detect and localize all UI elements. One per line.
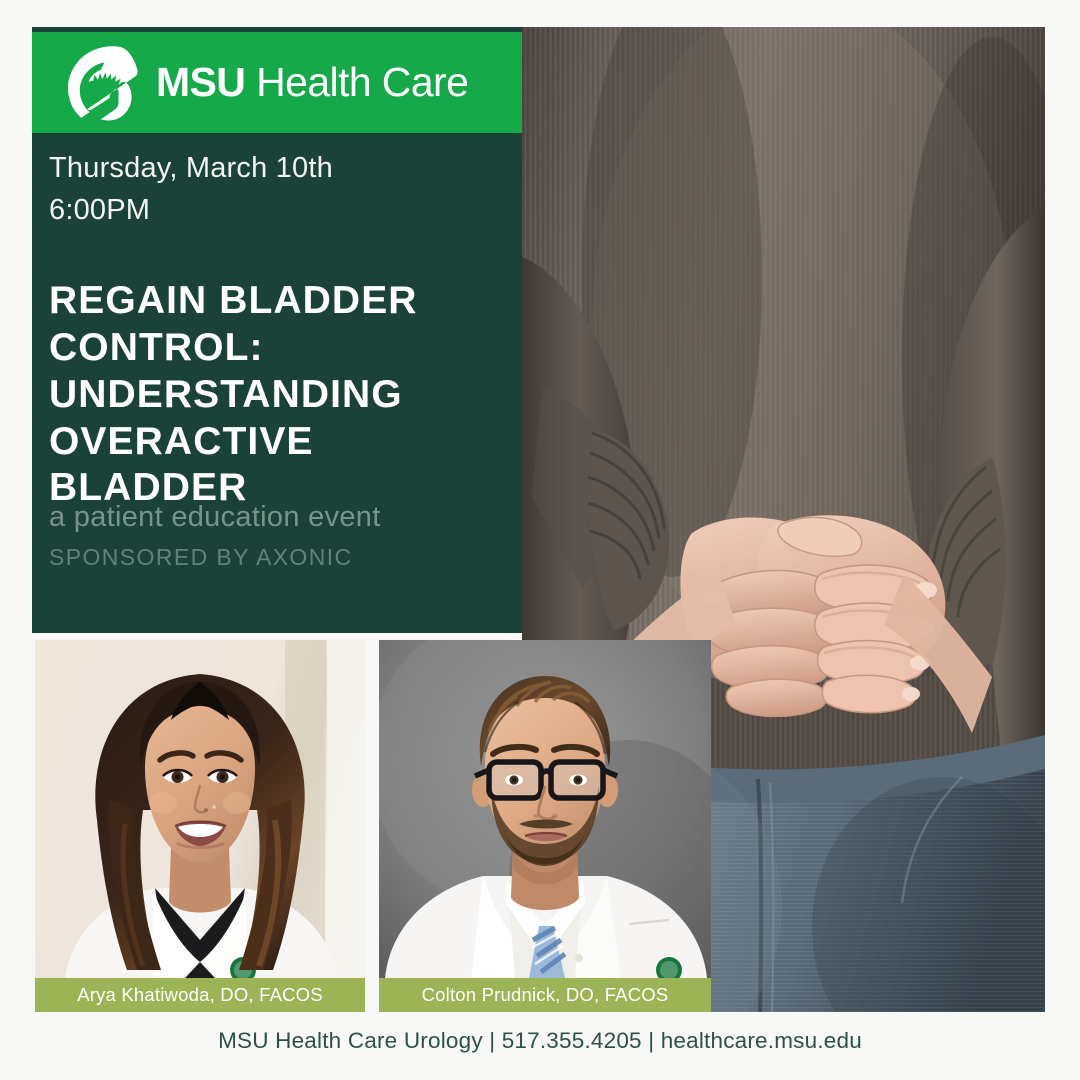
wordmark-health-care: Health Care: [245, 59, 468, 105]
speaker-caption-1: Arya Khatiwoda, DO, FACOS: [35, 978, 365, 1012]
brand-logo-bar: MSU Health Care: [32, 32, 522, 133]
spartan-helmet-icon: [58, 43, 146, 123]
event-flyer: MSU Health Care Thursday, March 10th 6:0…: [0, 0, 1080, 1080]
msu-health-care-wordmark: MSU Health Care: [156, 62, 468, 103]
event-subtitle: a patient education event: [49, 501, 509, 533]
event-headline: REGAIN BLADDER CONTROL: UNDERSTANDING OV…: [49, 278, 509, 512]
event-time: 6:00PM: [49, 189, 505, 231]
event-info-panel: MSU Health Care Thursday, March 10th 6:0…: [32, 27, 522, 633]
event-date: Thursday, March 10th: [49, 147, 505, 189]
wordmark-msu: MSU: [156, 59, 245, 105]
footer-contact-line: MSU Health Care Urology | 517.355.4205 |…: [0, 1028, 1080, 1054]
event-datetime: Thursday, March 10th 6:00PM: [49, 147, 505, 231]
headshot-colton-prudnick: [379, 640, 711, 978]
event-sponsor: SPONSORED BY AXONIC: [49, 544, 509, 571]
headshot-arya-khatiwoda: [35, 640, 365, 978]
speaker-caption-2: Colton Prudnick, DO, FACOS: [379, 978, 711, 1012]
